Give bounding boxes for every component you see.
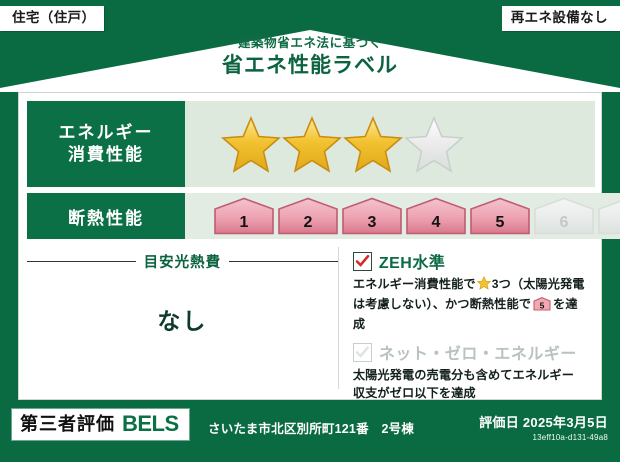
insulation-grade-value: 3 <box>341 215 403 231</box>
insulation-grade-value: 4 <box>405 215 467 231</box>
zeh-section: ZEH水準 エネルギー消費性能で3つ（太陽光発電 は考慮しない）、かつ断熱性能で… <box>339 245 595 391</box>
checkbox-unchecked-icon <box>353 343 372 362</box>
svg-text:5: 5 <box>540 300 545 310</box>
evaluation-info: 評価日 2025年3月5日 13eff10a-d131-49a8 <box>479 412 608 442</box>
insulation-grade-active: 3 <box>341 197 403 235</box>
zeh-desc-stars: 3つ（太陽光発電 <box>492 277 585 291</box>
insulation-grade-active: 2 <box>277 197 339 235</box>
insulation-performance-row: 断熱性能 1234567 <box>27 193 595 239</box>
insulation-grade-scale: 1234567 <box>213 197 620 235</box>
bels-logo: 第三者評価 BELS <box>12 409 189 440</box>
label-subtitle: 建築物省エネ法に基づく <box>0 37 620 51</box>
mini-star-icon <box>477 276 491 296</box>
checkbox-checked-icon <box>353 252 372 271</box>
energy-label-line1: エネルギー <box>59 122 154 144</box>
insulation-grade-active: 4 <box>405 197 467 235</box>
energy-performance-label: 建築物省エネ法に基づく 省エネ性能ラベル 住宅（住戸） 再エネ設備なし エネルギ… <box>0 0 620 462</box>
star-rating <box>221 115 464 173</box>
property-address: さいたま市北区別所町121番 2号棟 <box>208 418 414 437</box>
insulation-grade-value: 5 <box>469 215 531 231</box>
evaluation-id: 13eff10a-d131-49a8 <box>479 433 608 442</box>
insulation-grade-inactive: 6 <box>533 197 595 235</box>
utility-cost-section: 目安光熱費 なし <box>27 245 338 391</box>
net-zero-energy-block: ネット・ゼロ・エネルギー 太陽光発電の売電分も含めてエネルギー 収支がゼロ以下を… <box>353 340 589 402</box>
energy-performance-label-box: エネルギー 消費性能 <box>27 101 185 187</box>
net-zero-desc-line2: 収支がゼロ以下を達成 <box>353 386 476 400</box>
third-party-eval-text: 第三者評価 <box>20 415 115 433</box>
energy-performance-row: エネルギー 消費性能 <box>27 101 595 187</box>
net-zero-desc-line1: 太陽光発電の売電分も含めてエネルギー <box>353 368 574 382</box>
bels-wordmark: BELS <box>122 413 179 435</box>
utility-cost-value: なし <box>27 302 338 336</box>
insulation-grade-value: 6 <box>533 215 595 231</box>
utility-cost-heading: 目安光熱費 <box>27 251 338 272</box>
building-type-badge: 住宅（住戸） <box>0 6 104 31</box>
zeh-standard-header: ZEH水準 <box>353 249 589 273</box>
star-filled-icon <box>282 115 342 173</box>
zeh-standard-title: ZEH水準 <box>379 249 446 273</box>
label-lower-section: 目安光熱費 なし ZEH水準 <box>27 245 595 391</box>
net-zero-energy-title: ネット・ゼロ・エネルギー <box>379 340 577 364</box>
insulation-grade-active: 5 <box>469 197 531 235</box>
mini-grade-house-icon: 5 <box>533 297 551 317</box>
insulation-performance-value: 1234567 <box>185 193 620 239</box>
label-title-block: 建築物省エネ法に基づく 省エネ性能ラベル <box>0 37 620 77</box>
star-empty-icon <box>404 115 464 173</box>
net-zero-energy-description: 太陽光発電の売電分も含めてエネルギー 収支がゼロ以下を達成 <box>353 367 589 402</box>
zeh-standard-description: エネルギー消費性能で3つ（太陽光発電 は考慮しない）、かつ断熱性能で5を達成 <box>353 276 589 334</box>
renewable-equipment-badge: 再エネ設備なし <box>502 6 620 31</box>
zeh-desc-part2: は考慮しない）、かつ断熱性能で <box>353 297 531 311</box>
insulation-grade-active: 1 <box>213 197 275 235</box>
insulation-grade-inactive: 7 <box>597 197 620 235</box>
label-footer: 第三者評価 BELS さいたま市北区別所町121番 2号棟 評価日 2025年3… <box>0 400 620 462</box>
energy-performance-value <box>185 101 595 187</box>
insulation-label: 断熱性能 <box>68 204 144 229</box>
energy-label-line2: 消費性能 <box>68 144 144 166</box>
zeh-desc-part1: エネルギー消費性能で <box>353 277 476 291</box>
star-filled-icon <box>221 115 281 173</box>
net-zero-energy-header: ネット・ゼロ・エネルギー <box>353 340 589 364</box>
star-filled-icon <box>343 115 403 173</box>
evaluation-date: 評価日 2025年3月5日 <box>479 412 608 431</box>
rule-right <box>229 261 338 262</box>
rule-left <box>27 261 136 262</box>
zeh-standard-block: ZEH水準 エネルギー消費性能で3つ（太陽光発電 は考慮しない）、かつ断熱性能で… <box>353 249 589 334</box>
insulation-grade-value: 7 <box>597 215 620 231</box>
insulation-performance-label-box: 断熱性能 <box>27 193 185 239</box>
insulation-grade-value: 1 <box>213 215 275 231</box>
utility-cost-heading-text: 目安光熱費 <box>144 251 222 272</box>
label-title: 省エネ性能ラベル <box>0 54 620 77</box>
label-body-panel: エネルギー 消費性能 断熱性能 1234567 目安光熱費 <box>18 92 602 400</box>
insulation-grade-value: 2 <box>277 215 339 231</box>
